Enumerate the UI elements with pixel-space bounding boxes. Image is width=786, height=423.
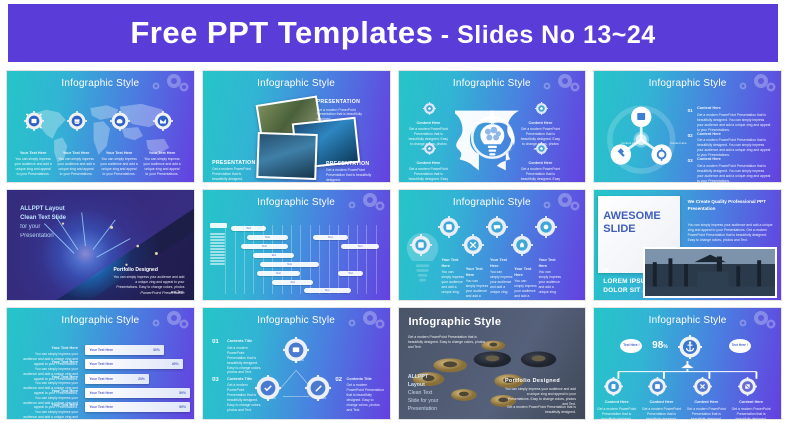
gear-icon-chain-5 [511,234,533,261]
gantt-bar: Text [247,235,288,240]
portfolio-signature: PowerPoint Presentation [140,290,184,296]
slide-title: Infographic Style [409,316,502,328]
presentation-caption-2: Get a modern PowerPoint Presentation tha… [212,167,257,182]
slide1-text-4: Your Text HereYou can simply impress you… [143,151,180,177]
portfolio-footer: Get a modern PowerPoint Presentation tha… [505,405,576,415]
ppt-template-preview-page: Free PPT Templates - Slides No 13~24 [0,0,786,423]
bar-item-4: Your Text Here50% [85,388,190,398]
heads-lightbulb-graphic [455,104,530,177]
slide1-text-1: Your Text HereYou can simply impress you… [14,151,51,177]
gantt-bar: Text [231,226,266,231]
gear-icon-node-3 [693,377,712,401]
slide12-text-4: Content HereGet a modern PowerPoint Pres… [731,400,772,420]
node-label-1: Content Here [617,141,643,145]
page-title-sub: - Slides No 13~24 [433,21,655,49]
slide4-item-2: Content HereGet a modern PowerPoint Pres… [697,132,772,158]
slide3-text-2: Content HereGet a modern PowerPoint Pres… [408,161,449,183]
gantt-bar: Text [241,244,288,249]
slide4-item-1: Content HereGet a modern PowerPoint Pres… [697,106,772,132]
list-number-3: 03 [688,158,693,163]
slide-thumbnail-6[interactable]: Infographic Style Text Text Text Text Te… [202,189,391,302]
slide11-subtitle: Get a modern PowerPoint Presentation tha… [408,335,490,350]
awesome-headline: We Create Quality Professional PPT Prese… [688,199,777,213]
slide7-text-5: Your Text HereYou can simply impress you… [539,258,561,295]
slide-title: Infographic Style [203,78,390,89]
slide7-text-3: Your Text HereYou can simply impress you… [490,258,512,295]
gear-node-label-1: Your Text [285,358,311,362]
gantt-bar: Text [338,271,363,276]
awesome-slide-title: AWESOME SLIDE [603,210,660,238]
slide-thumbnail-3[interactable]: Infographic Style Content HereGet a mode… [398,70,587,183]
slide-title: Infographic Style [203,197,390,208]
node-label-2: Content Here [665,141,691,145]
list-number-1: 01 [688,108,693,113]
slide-thumbnail-7[interactable]: Infographic Style [398,189,587,302]
gear-icon-node-2 [648,377,667,401]
gear-icon-right-2 [535,142,548,160]
slide7-text-2: Your Text HereYou can simply impress you… [466,267,488,301]
slide-title: Infographic Style [399,78,586,89]
slide5-heading: ALLPPT Layout Clean Text Slide for your … [20,205,66,241]
gear-list-number-1: 01 [212,339,219,345]
slide-thumbnail-12[interactable]: Infographic Style Text Here ! Text Here … [593,307,782,420]
gear-icon-right-1 [535,102,548,120]
gear-node-label-3: Your Text [307,396,333,400]
industrial-photo [643,247,777,298]
gantt-row-labels [210,232,225,266]
bar-item-3: Your Text Here20% [85,374,148,384]
gear-icon-node-1 [604,377,623,401]
slide12-text-3: Content HereGet a modern PowerPoint Pres… [686,400,727,420]
gear-icon-1 [24,111,44,136]
slide-thumbnail-5[interactable]: ALLPPT Layout Clean Text Slide for your … [6,189,195,302]
gear-icon-4 [153,111,173,136]
portfolio-title: Portfolio Designed [505,378,560,384]
bar-item-5: Your Text Here60% [85,402,190,412]
header-banner: Free PPT Templates - Slides No 13~24 [8,4,778,62]
slide-thumbnail-4[interactable]: Infographic Style Content Here Content H… [593,70,782,183]
gantt-bar: Text [272,280,313,285]
slide3-text-4: Content HereGet a modern PowerPoint Pres… [520,161,561,183]
gear-icon-chain-4 [486,216,508,243]
slide-title: Infographic Style [7,78,194,89]
slide12-text-1: Content HereGet a modern PowerPoint Pres… [596,400,637,420]
slide1-text-3: Your Text HereYou can simply impress you… [100,151,137,177]
gear-icon-chain-2 [438,216,460,243]
slide-title: Infographic Style [594,78,781,89]
gear-icon-2 [67,111,87,136]
page-title-main: Free PPT Templates [130,15,433,50]
gear-icon-chain-1 [410,234,432,261]
gear-icon-left-1 [423,102,436,120]
slide-thumbnail-11[interactable]: Infographic Style Get a modern PowerPoin… [398,307,587,420]
slide-thumbnail-10[interactable]: Infographic Style Your Text Your Text Yo… [202,307,391,420]
gantt-bar: Text [304,288,351,293]
slide-title: Infographic Style [7,315,194,326]
gantt-bar: Text [341,244,379,249]
gear-icon-3 [110,111,130,136]
portfolio-title: Portfolio Designed [113,267,157,273]
slide-title: Infographic Style [399,197,586,208]
gear-icon-chain-3 [462,234,484,261]
slide10-item-3: Contents TitleGet a modern PowerPoint Pr… [227,377,262,413]
slide10-item-2: Contents TitleGet a modern PowerPoint Pr… [347,377,384,413]
tri-node-diagram [602,102,680,177]
gear-icon-anchor [678,335,702,364]
slide-thumbnail-2[interactable]: Infographic Style PRESENTATION Get a mod… [202,70,391,183]
slide1-text-2: Your Text HereYou can simply impress you… [57,151,94,177]
gear-icon-node-4 [738,377,757,401]
gear-icon-top [283,337,309,368]
slide-title: Infographic Style [203,315,390,326]
awesome-body: You can simply impress your audience and… [688,223,774,243]
presentation-label-1: PRESENTATION [317,99,360,105]
slide-title: Infographic Style [594,315,781,326]
slide-thumbnail-1[interactable]: Infographic Style [6,70,195,183]
gantt-bar: Text [253,253,294,258]
presentation-caption-3: Get a modern PowerPoint Presentation tha… [326,168,375,182]
slide7-text-1: Your Text HereYou can simply impress you… [441,258,463,295]
gear-icon-left-2 [423,142,436,160]
slide-thumbnail-grid: Infographic Style [6,70,782,420]
slide9-text-5: Your Text HereYou can simply impress you… [22,403,78,420]
slide10-item-1: Contents TitleGet a modern PowerPoint Pr… [227,339,262,375]
presentation-label-3: PRESENTATION [326,161,369,167]
gantt-bar: Text [313,235,348,240]
percent-value: 98% [652,340,668,351]
gear-list-number-3: 03 [212,377,219,383]
slide7-text-4: Your Text HereYou can simply impress you… [514,267,536,301]
bar-item-2: Your Text Here40% [85,359,182,369]
slide-thumbnail-9[interactable]: Infographic Style Your Text HereYou can … [6,307,195,420]
bar-item-1: Your Text Here30% [85,345,163,355]
gantt-bar: Text [260,262,320,267]
slide11-heading: ALLPPT Layout Clean Text Slide for your … [408,374,439,413]
slide4-item-3: Content HereGet a modern PowerPoint Pres… [697,157,772,182]
gantt-bar: Text [257,271,301,276]
gear-icon-bottom-right [305,375,331,406]
presentation-caption-1: Get a modern PowerPoint Presentation tha… [317,108,366,123]
gear-list-number-2: 02 [335,377,342,383]
list-number-2: 02 [688,133,693,138]
presentation-label-2: PRESENTATION [212,160,255,166]
gantt-chart-area: Text Text Text Text Text Text Text Text … [225,225,382,294]
gear-icon-chain-6 [535,216,557,243]
page-title: Free PPT Templates - Slides No 13~24 [130,15,655,51]
photo-card-3 [256,132,318,180]
slide12-text-2: Content HereGet a modern PowerPoint Pres… [641,400,682,420]
slide-thumbnail-8[interactable]: AWESOME SLIDE We Create Quality Professi… [593,189,782,302]
